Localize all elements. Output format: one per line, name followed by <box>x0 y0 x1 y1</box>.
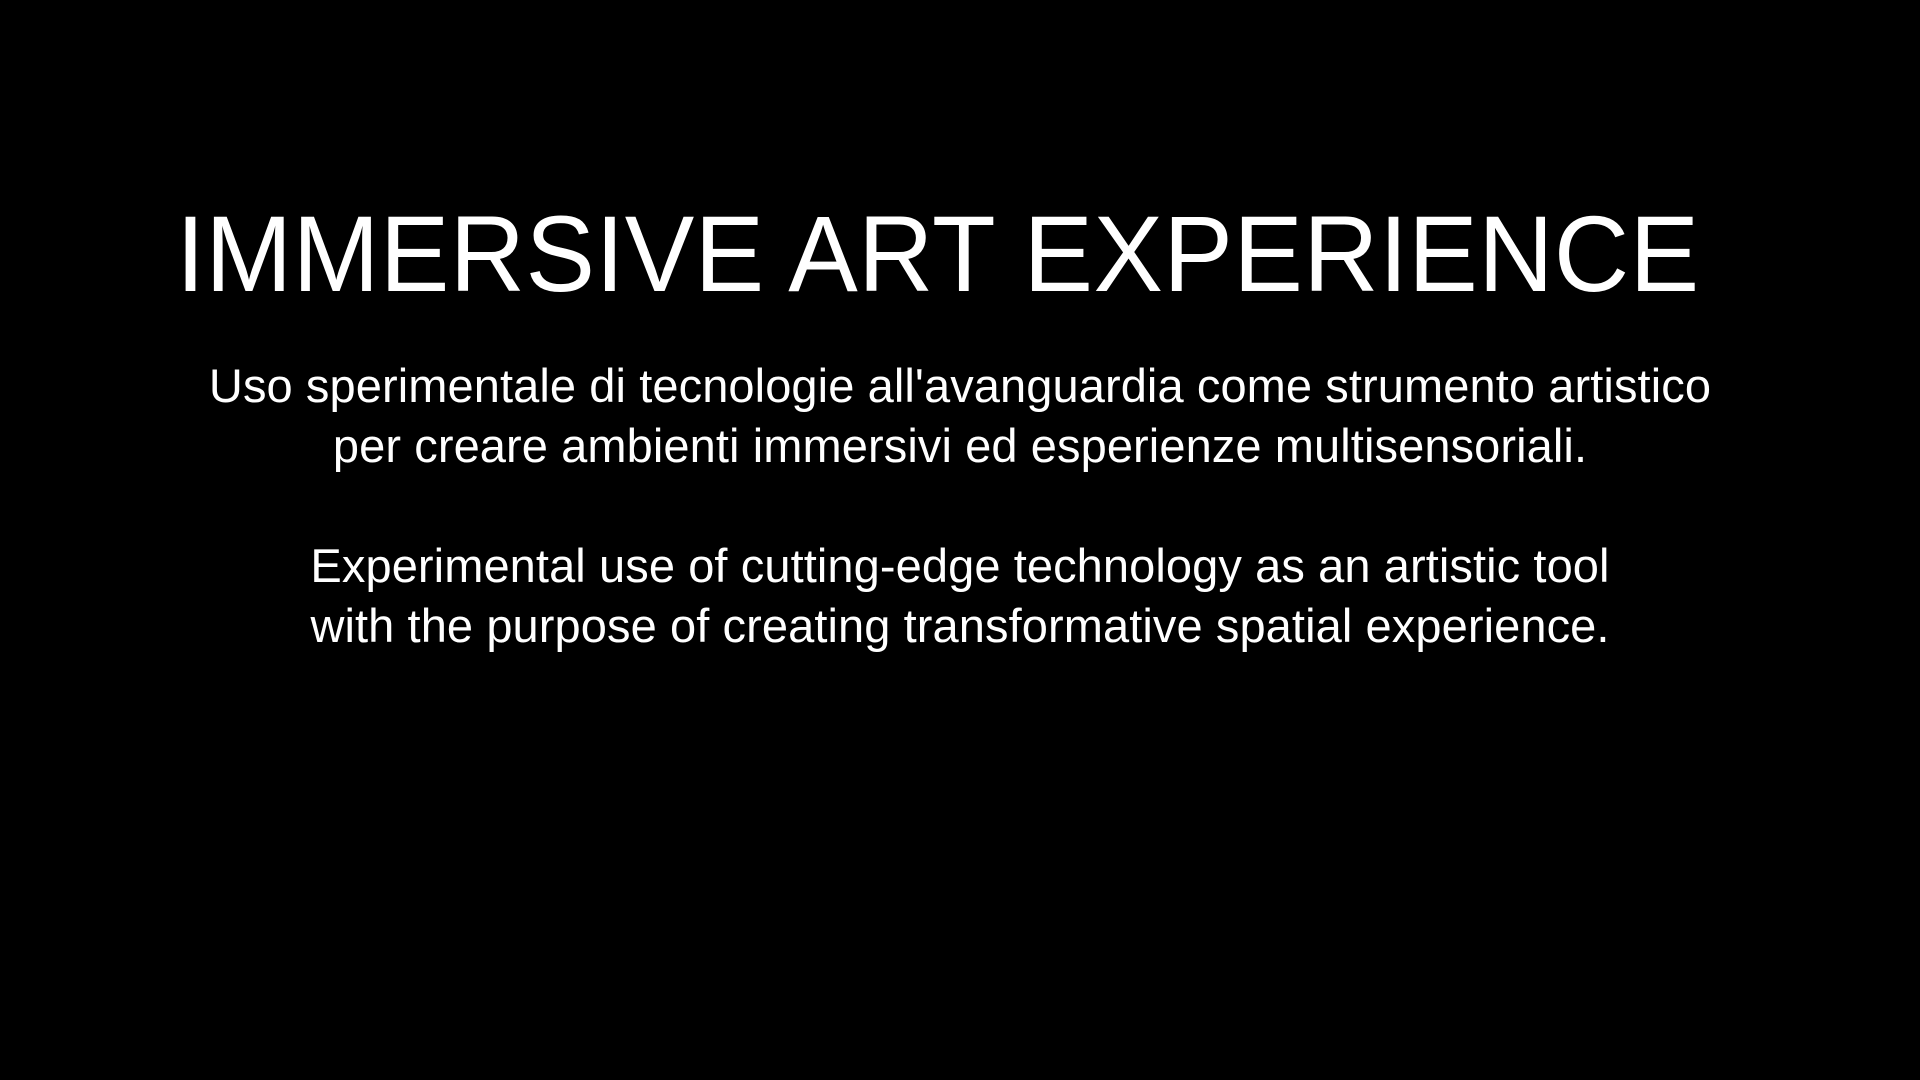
paragraph-english-line-1: Experimental use of cutting-edge technol… <box>0 536 1920 596</box>
presentation-slide: IMMERSIVE ART EXPERIENCE Uso sperimental… <box>0 0 1920 1080</box>
page-title: IMMERSIVE ART EXPERIENCE <box>176 198 1701 310</box>
paragraph-italian-line-2: per creare ambienti immersivi ed esperie… <box>0 416 1920 476</box>
paragraph-english: Experimental use of cutting-edge technol… <box>0 536 1920 656</box>
paragraph-italian-line-1: Uso sperimentale di tecnologie all'avang… <box>0 356 1920 416</box>
slide-body-text: Uso sperimentale di tecnologie all'avang… <box>0 356 1920 656</box>
paragraph-english-line-2: with the purpose of creating transformat… <box>0 596 1920 656</box>
paragraph-spacer <box>0 476 1920 536</box>
paragraph-italian: Uso sperimentale di tecnologie all'avang… <box>0 356 1920 476</box>
